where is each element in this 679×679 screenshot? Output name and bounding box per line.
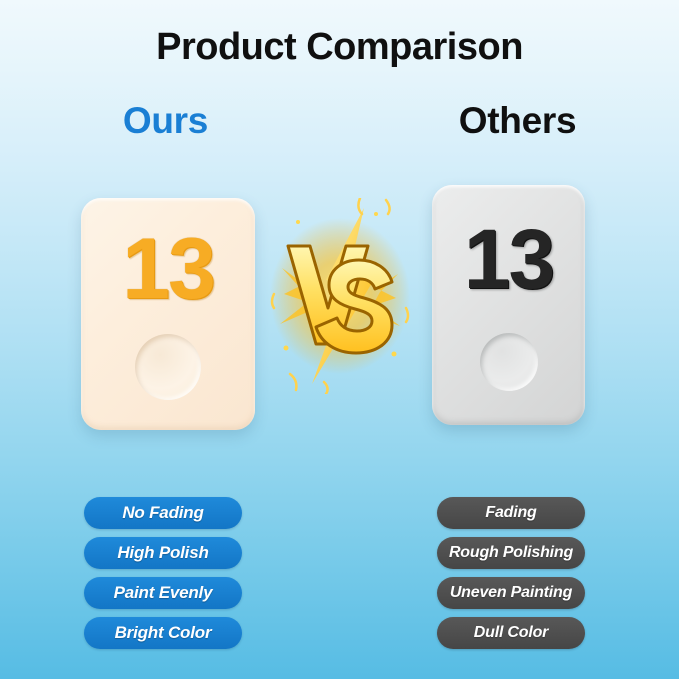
tile-number-ours: 13	[81, 226, 255, 312]
versus-burst-icon	[268, 198, 412, 394]
product-tile-ours: 13	[81, 198, 255, 430]
badge-ours-2: High Polish	[84, 537, 242, 569]
product-tile-others: 13	[432, 185, 585, 425]
tile-number-others: 13	[432, 217, 585, 301]
page-title: Product Comparison	[0, 26, 679, 69]
badge-others-3: Uneven Painting	[437, 577, 585, 609]
badge-others-4: Dull Color	[437, 617, 585, 649]
badge-others-2: Rough Polishing	[437, 537, 585, 569]
badge-ours-3: Paint Evenly	[84, 577, 242, 609]
badge-ours-1: No Fading	[84, 497, 242, 529]
column-heading-others: Others	[390, 100, 645, 142]
tile-dimple-others	[480, 333, 538, 391]
badge-ours-4: Bright Color	[84, 617, 242, 649]
product-comparison-graphic: Product Comparison Ours Others 13 13	[0, 0, 679, 679]
feature-badges-ours: No Fading High Polish Paint Evenly Brigh…	[84, 497, 242, 649]
feature-badges-others: Fading Rough Polishing Uneven Painting D…	[437, 497, 585, 649]
badge-others-1: Fading	[437, 497, 585, 529]
tile-dimple-ours	[135, 334, 201, 400]
column-heading-ours: Ours	[38, 100, 293, 142]
